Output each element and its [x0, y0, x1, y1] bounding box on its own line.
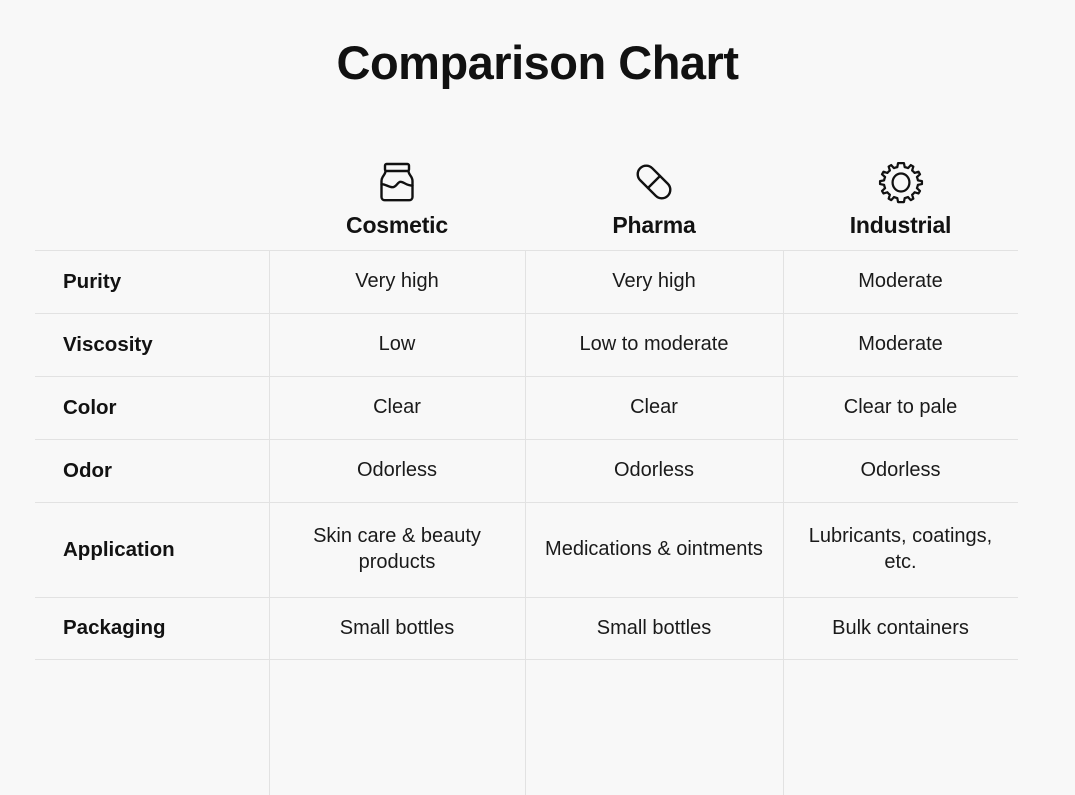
cell-text: Skin care & beauty products	[283, 524, 511, 575]
comparison-grid: Cosmetic Pharma	[35, 128, 1018, 660]
cell-packaging-industrial: Bulk containers	[783, 597, 1018, 660]
column-header-label: Cosmetic	[346, 213, 448, 238]
cell-text: Moderate	[858, 269, 943, 295]
page-title: Comparison Chart	[0, 36, 1075, 90]
jar-icon	[373, 155, 421, 205]
cell-text: Very high	[355, 269, 438, 295]
row-label-odor: Odor	[35, 439, 269, 502]
cell-application-cosmetic: Skin care & beauty products	[269, 502, 525, 597]
cell-color-pharma: Clear	[525, 376, 783, 439]
cell-text: Clear	[373, 395, 421, 421]
cell-viscosity-industrial: Moderate	[783, 313, 1018, 376]
comparison-chart-page: Comparison Chart Cosmetic	[0, 0, 1075, 717]
cell-text: Odorless	[614, 458, 694, 484]
column-divider-2	[525, 250, 526, 795]
column-divider-1	[269, 250, 270, 795]
row-label-text: Odor	[63, 458, 112, 484]
header-corner-cell	[35, 128, 269, 250]
row-label-text: Viscosity	[63, 332, 153, 358]
cell-odor-cosmetic: Odorless	[269, 439, 525, 502]
cell-color-cosmetic: Clear	[269, 376, 525, 439]
cell-application-pharma: Medications & ointments	[525, 502, 783, 597]
cell-text: Clear to pale	[844, 395, 957, 421]
cell-color-industrial: Clear to pale	[783, 376, 1018, 439]
cell-application-industrial: Lubricants, coatings, etc.	[783, 502, 1018, 597]
row-label-text: Color	[63, 395, 117, 421]
cell-purity-cosmetic: Very high	[269, 250, 525, 313]
cell-odor-industrial: Odorless	[783, 439, 1018, 502]
cell-purity-pharma: Very high	[525, 250, 783, 313]
row-label-text: Purity	[63, 269, 121, 295]
cell-text: Medications & ointments	[545, 537, 763, 563]
cell-packaging-cosmetic: Small bottles	[269, 597, 525, 660]
cell-text: Lubricants, coatings, etc.	[797, 524, 1004, 575]
row-label-text: Packaging	[63, 615, 166, 641]
gear-icon	[877, 155, 925, 205]
row-label-text: Application	[63, 537, 175, 563]
cell-text: Very high	[612, 269, 695, 295]
cell-text: Odorless	[357, 458, 437, 484]
row-label-color: Color	[35, 376, 269, 439]
column-header-label: Industrial	[850, 213, 952, 238]
capsule-icon	[630, 155, 678, 205]
cell-purity-industrial: Moderate	[783, 250, 1018, 313]
cell-viscosity-pharma: Low to moderate	[525, 313, 783, 376]
column-header-cosmetic: Cosmetic	[269, 128, 525, 250]
cell-viscosity-cosmetic: Low	[269, 313, 525, 376]
cell-text: Odorless	[860, 458, 940, 484]
cell-text: Low	[379, 332, 416, 358]
cell-text: Low to moderate	[580, 332, 729, 358]
cell-text: Small bottles	[340, 616, 455, 642]
column-header-industrial: Industrial	[783, 128, 1018, 250]
cell-text: Moderate	[858, 332, 943, 358]
cell-packaging-pharma: Small bottles	[525, 597, 783, 660]
cell-text: Clear	[630, 395, 678, 421]
column-header-label: Pharma	[612, 213, 695, 238]
cell-odor-pharma: Odorless	[525, 439, 783, 502]
row-label-viscosity: Viscosity	[35, 313, 269, 376]
row-label-purity: Purity	[35, 250, 269, 313]
cell-text: Small bottles	[597, 616, 712, 642]
comparison-table: Cosmetic Pharma	[35, 128, 1018, 660]
row-label-packaging: Packaging	[35, 597, 269, 660]
column-divider-3	[783, 250, 784, 795]
cell-text: Bulk containers	[832, 616, 969, 642]
column-header-pharma: Pharma	[525, 128, 783, 250]
row-label-application: Application	[35, 502, 269, 597]
